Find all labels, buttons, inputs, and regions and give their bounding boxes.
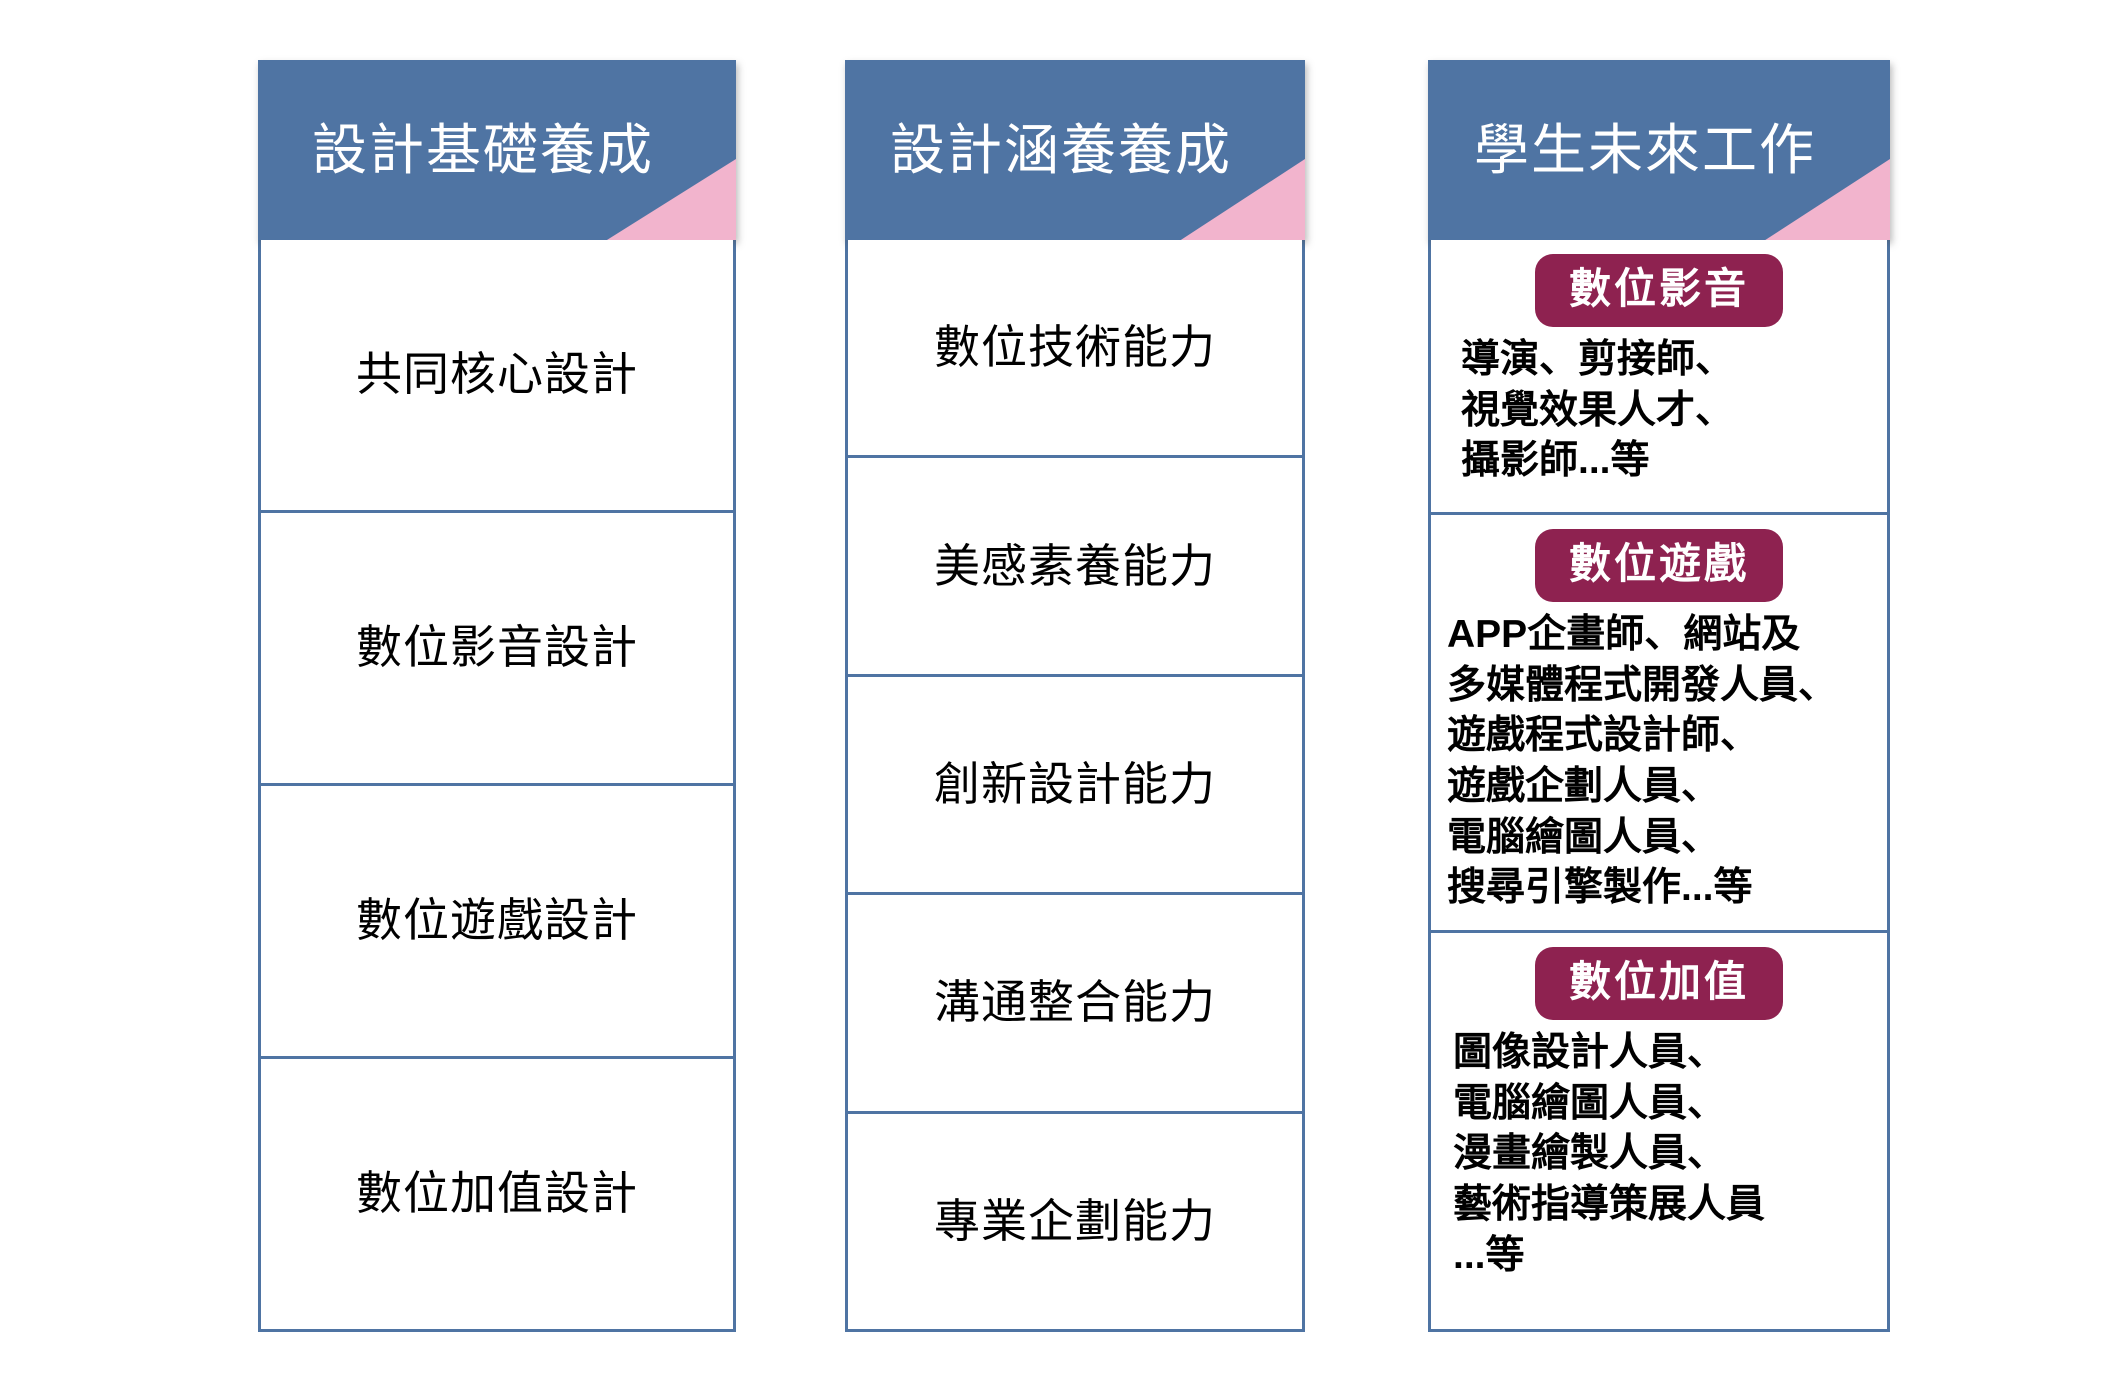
- cell-label: 數位加值設計: [356, 1166, 638, 1221]
- job-list-item: 電腦繪圖人員、: [1447, 813, 1873, 864]
- badge-row: 數位影音: [1431, 254, 1887, 327]
- cell-professional-planning-ability[interactable]: 專業企劃能力: [848, 1111, 1302, 1329]
- badge-row: 數位加值: [1431, 947, 1887, 1020]
- job-list-item: ...等: [1453, 1231, 1873, 1282]
- cell-label: 數位技術能力: [934, 320, 1216, 375]
- job-list-digital-av: 導演、剪接師、 視覺效果人才、 攝影師...等: [1431, 335, 1887, 487]
- cell-label: 創新設計能力: [934, 757, 1216, 812]
- column-body-student-future-work: 數位影音 導演、剪接師、 視覺效果人才、 攝影師...等 數位遊戲 APP企畫師…: [1428, 240, 1890, 1332]
- job-list-digital-value-added: 圖像設計人員、 電腦繪圖人員、 漫畫繪製人員、 藝術指導策展人員 ...等: [1431, 1028, 1887, 1281]
- cell-digital-av-design[interactable]: 數位影音設計: [261, 510, 733, 783]
- job-list-item: 圖像設計人員、: [1453, 1028, 1873, 1079]
- job-list-item: 搜尋引擎製作...等: [1447, 863, 1873, 914]
- job-group-badge-digital-game[interactable]: 數位遊戲: [1535, 529, 1783, 602]
- job-list-item: 視覺效果人才、: [1461, 386, 1873, 437]
- cell-innovative-design-ability[interactable]: 創新設計能力: [848, 674, 1302, 892]
- cell-digital-value-added-design[interactable]: 數位加值設計: [261, 1056, 733, 1329]
- cell-communication-integration-ability[interactable]: 溝通整合能力: [848, 892, 1302, 1110]
- job-list-item: 漫畫繪製人員、: [1453, 1129, 1873, 1180]
- cell-aesthetic-literacy-ability[interactable]: 美感素養能力: [848, 455, 1302, 673]
- cell-core-design[interactable]: 共同核心設計: [261, 240, 733, 510]
- cell-digital-game-design[interactable]: 數位遊戲設計: [261, 783, 733, 1056]
- diagram-canvas: 設計基礎養成 共同核心設計 數位影音設計 數位遊戲設計 數位加值設計 設計涵養養…: [0, 0, 2126, 1381]
- job-group-digital-value-added[interactable]: 數位加值 圖像設計人員、 電腦繪圖人員、 漫畫繪製人員、 藝術指導策展人員 ..…: [1431, 930, 1887, 1329]
- column-body-design-cultivation: 數位技術能力 美感素養能力 創新設計能力 溝通整合能力 專業企劃能力: [845, 240, 1305, 1332]
- column-header-student-future-work: 學生未來工作: [1428, 60, 1890, 240]
- badge-row: 數位遊戲: [1431, 529, 1887, 602]
- job-list-item: 導演、剪接師、: [1461, 335, 1873, 386]
- column-design-foundation: 設計基礎養成 共同核心設計 數位影音設計 數位遊戲設計 數位加值設計: [258, 60, 736, 1332]
- job-group-badge-digital-av[interactable]: 數位影音: [1535, 254, 1783, 327]
- job-group-digital-game[interactable]: 數位遊戲 APP企畫師、網站及 多媒體程式開發人員、 遊戲程式設計師、 遊戲企劃…: [1431, 512, 1887, 930]
- job-list-item: 藝術指導策展人員: [1453, 1180, 1873, 1231]
- column-title-design-cultivation: 設計涵養養成: [845, 60, 1305, 240]
- job-list-item: APP企畫師、網站及: [1447, 610, 1873, 661]
- job-group-digital-av[interactable]: 數位影音 導演、剪接師、 視覺效果人才、 攝影師...等: [1431, 240, 1887, 512]
- column-design-cultivation: 設計涵養養成 數位技術能力 美感素養能力 創新設計能力 溝通整合能力 專業企劃能…: [845, 60, 1305, 1332]
- job-list-item: 電腦繪圖人員、: [1453, 1079, 1873, 1130]
- column-body-design-foundation: 共同核心設計 數位影音設計 數位遊戲設計 數位加值設計: [258, 240, 736, 1332]
- cell-label: 數位影音設計: [356, 620, 638, 675]
- job-group-badge-digital-value-added[interactable]: 數位加值: [1535, 947, 1783, 1020]
- column-header-design-cultivation: 設計涵養養成: [845, 60, 1305, 240]
- job-list-item: 遊戲企劃人員、: [1447, 762, 1873, 813]
- cell-label: 美感素養能力: [934, 539, 1216, 594]
- cell-label: 溝通整合能力: [934, 975, 1216, 1030]
- job-list-digital-game: APP企畫師、網站及 多媒體程式開發人員、 遊戲程式設計師、 遊戲企劃人員、 電…: [1431, 610, 1887, 914]
- column-title-design-foundation: 設計基礎養成: [258, 60, 736, 240]
- cell-digital-tech-ability[interactable]: 數位技術能力: [848, 240, 1302, 455]
- cell-label: 專業企劃能力: [934, 1194, 1216, 1249]
- job-list-item: 多媒體程式開發人員、: [1447, 661, 1873, 712]
- column-header-design-foundation: 設計基礎養成: [258, 60, 736, 240]
- cell-label: 數位遊戲設計: [356, 893, 638, 948]
- column-student-future-work: 學生未來工作 數位影音 導演、剪接師、 視覺效果人才、 攝影師...等 數位遊戲…: [1428, 60, 1890, 1332]
- column-title-student-future-work: 學生未來工作: [1428, 60, 1890, 240]
- job-list-item: 攝影師...等: [1461, 436, 1873, 487]
- job-list-item: 遊戲程式設計師、: [1447, 711, 1873, 762]
- cell-label: 共同核心設計: [356, 347, 638, 402]
